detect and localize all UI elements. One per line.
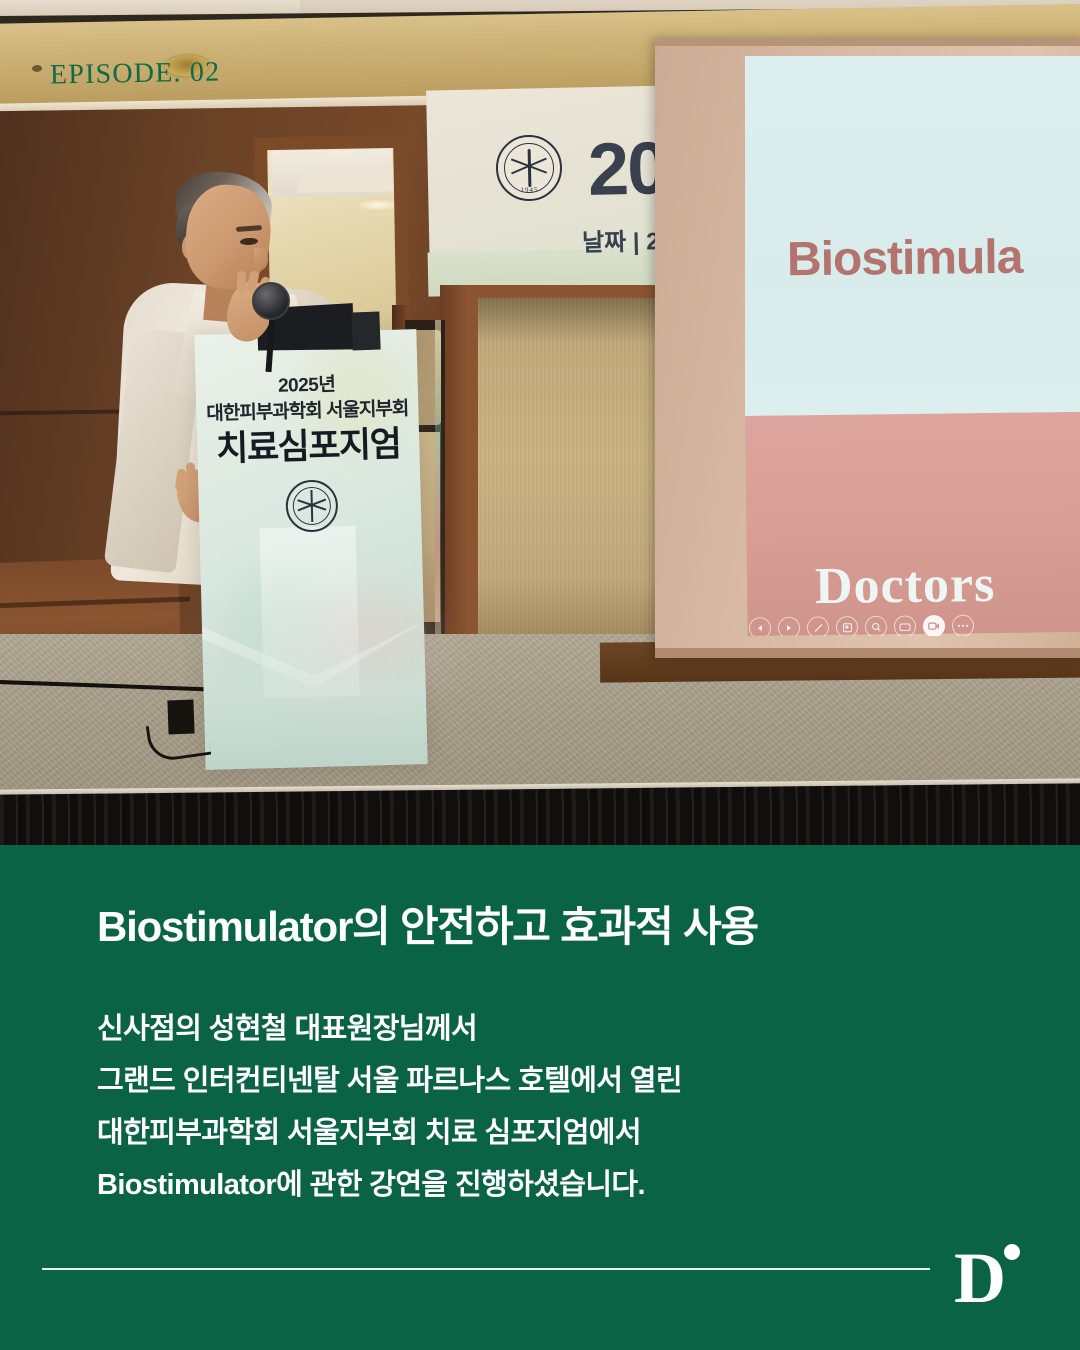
- caption-icon[interactable]: [894, 615, 916, 636]
- banner-date-text: 날짜 | 2: [582, 221, 660, 258]
- podium-inner-panel: [259, 526, 359, 698]
- prev-slide-icon[interactable]: [749, 617, 771, 636]
- projection-screen: Biostimula Doctors: [655, 38, 1080, 658]
- page-title: Biostimulator의 안전하고 효과적 사용: [97, 893, 758, 954]
- association-emblem-icon: 1945: [495, 134, 562, 201]
- description-line: 대한피부과학회 서울지부회 치료 심포지엄에서: [97, 1107, 682, 1159]
- podium-emblem-icon: [285, 479, 338, 532]
- brand-logo: D: [952, 1236, 1032, 1316]
- microphone-icon: [252, 282, 290, 320]
- episode-card: 1945 20 날짜 | 2: [0, 0, 1080, 1350]
- secondary-monitor: [351, 312, 380, 351]
- slide-footer-word: Doctors: [815, 555, 996, 616]
- divider: [42, 1268, 930, 1270]
- speaker-nose: [254, 248, 268, 270]
- podium: 2025년 대한피부과학회 서울지부회 치료심포지엄: [194, 329, 427, 770]
- paneled-wall-grain: [478, 298, 673, 648]
- emblem-year: 1945: [498, 185, 560, 194]
- valance-notch: [32, 65, 42, 72]
- description-line: Biostimulator에 관한 강연을 진행하셨습니다.: [97, 1159, 682, 1211]
- stage-skirt-pleats: [0, 783, 1080, 845]
- zoom-icon[interactable]: [865, 616, 887, 636]
- projected-slide: Biostimula Doctors: [745, 56, 1080, 636]
- more-options-icon[interactable]: [952, 615, 974, 636]
- slide-title: Biostimula: [787, 230, 1023, 287]
- podium-event-title: 치료심포지엄: [197, 415, 420, 472]
- next-slide-icon[interactable]: [778, 617, 800, 636]
- description-text: 신사점의 성현철 대표원장님께서 그랜드 인터컨티넨탈 서울 파르나스 호텔에서…: [97, 1003, 682, 1211]
- conference-photo: 1945 20 날짜 | 2: [0, 0, 1080, 845]
- doorway-light-strip: [435, 320, 441, 660]
- description-line: 그랜드 인터컨티넨탈 서울 파르나스 호텔에서 열린: [97, 1055, 682, 1107]
- episode-label: EPISODE. 02: [50, 57, 221, 92]
- grid-view-icon[interactable]: [836, 616, 858, 636]
- screen-bottom-rail: [655, 648, 1080, 658]
- screen-top-rail: [655, 38, 1080, 46]
- svg-text:D: D: [954, 1238, 1006, 1316]
- presenter-toolbar[interactable]: [749, 615, 974, 636]
- description-line: 신사점의 성현철 대표원장님께서: [97, 1003, 682, 1055]
- pen-icon[interactable]: [807, 616, 829, 636]
- caption-panel: Biostimulator의 안전하고 효과적 사용 신사점의 성현철 대표원장…: [0, 845, 1080, 1350]
- camera-icon[interactable]: [923, 615, 945, 636]
